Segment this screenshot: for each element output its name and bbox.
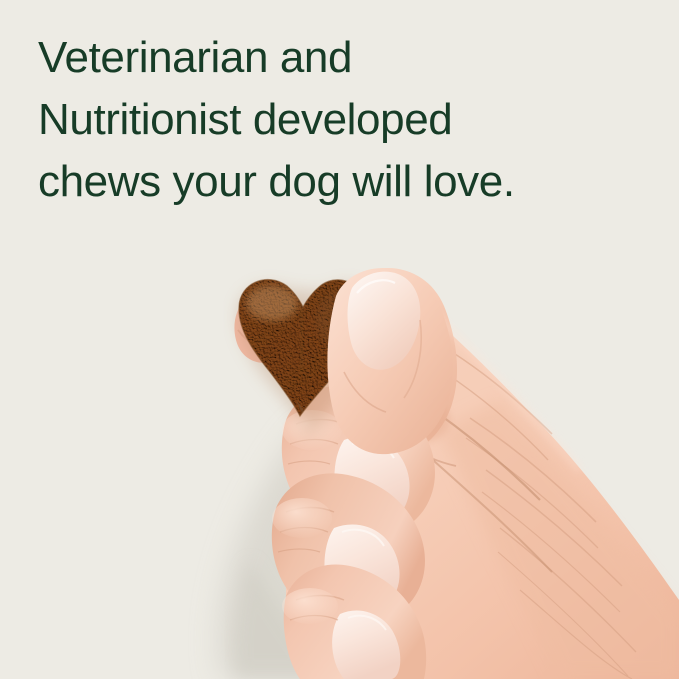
hand-holding-treat-photo <box>0 0 679 679</box>
promo-image-canvas: Veterinarian and Nutritionist developed … <box>0 0 679 679</box>
index-fingertip-over-treat <box>327 268 453 454</box>
